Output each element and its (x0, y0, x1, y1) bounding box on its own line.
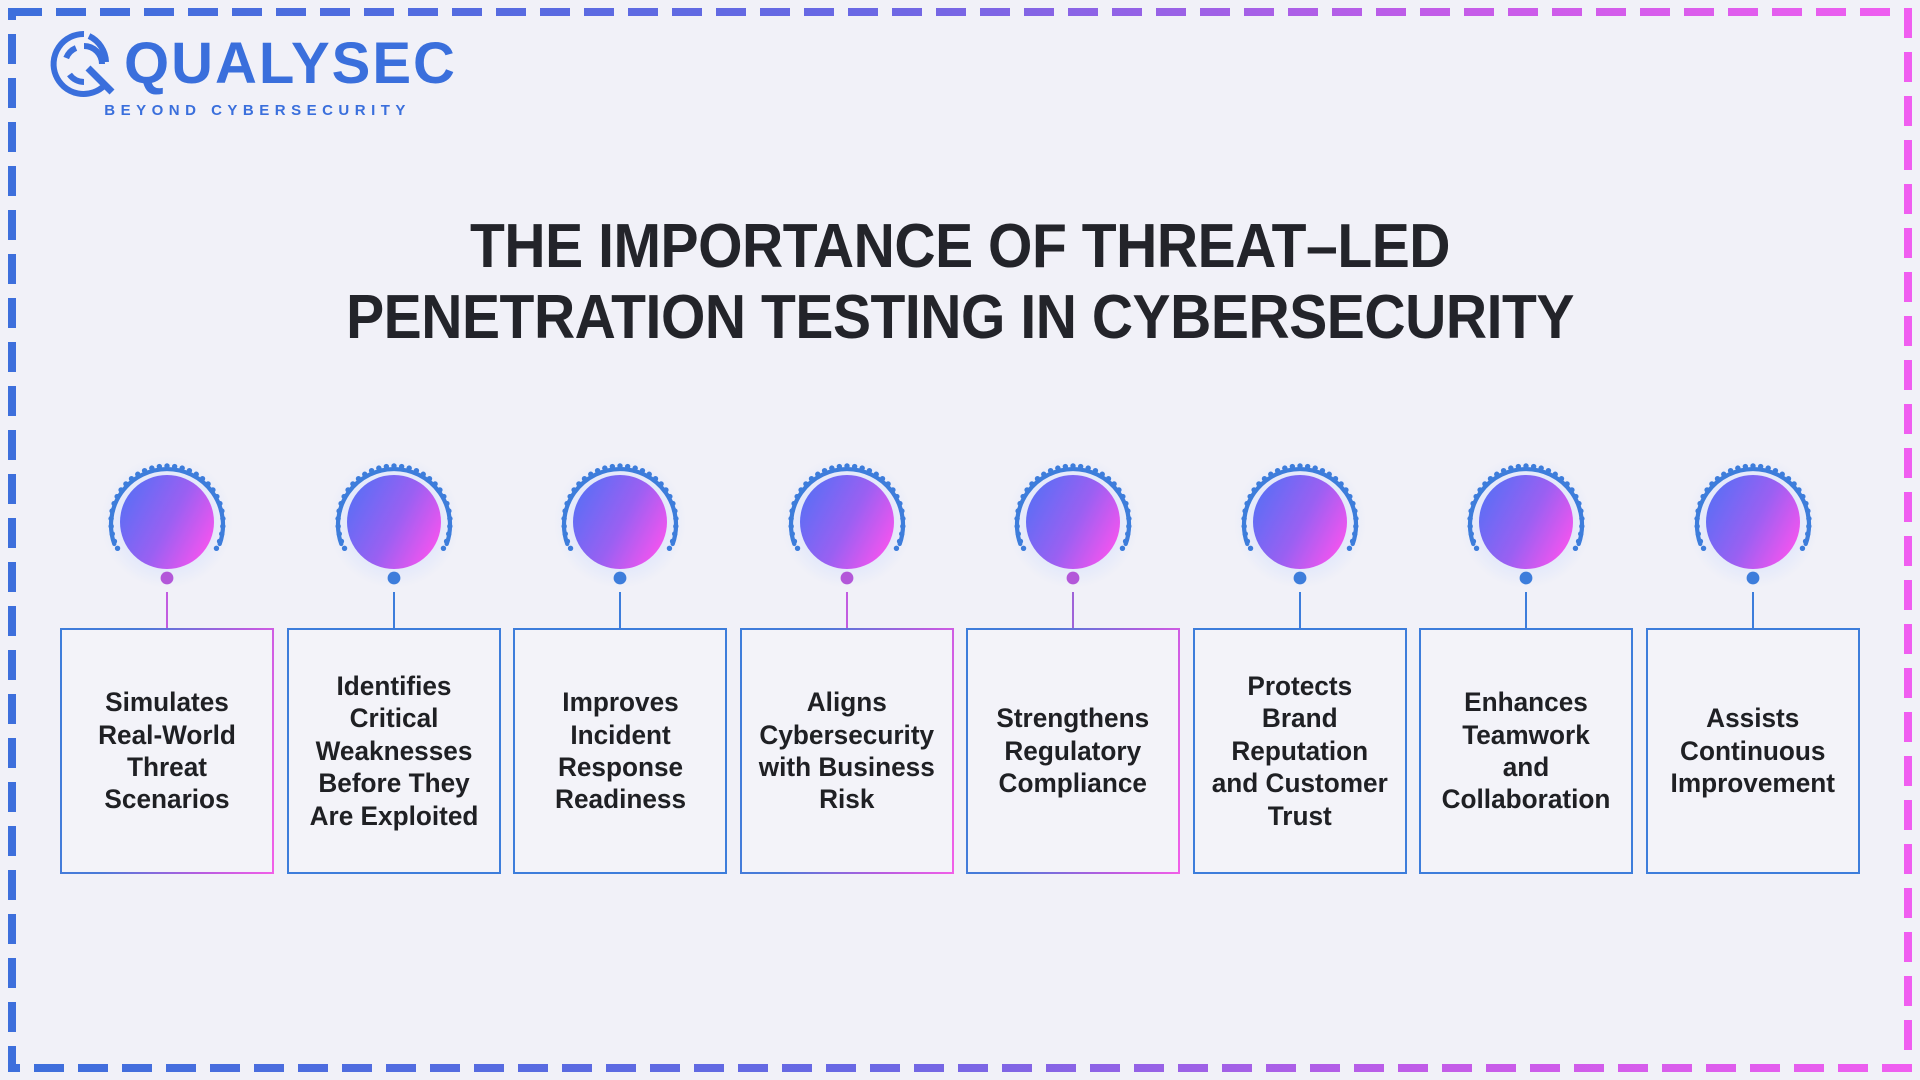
benefit-card-label: AssistsContinuousImprovement (1671, 702, 1835, 799)
gradient-circle-medallion-icon (324, 452, 464, 592)
qualysec-q-logo-icon (48, 28, 120, 100)
benefit-card-label: StrengthensRegulatoryCompliance (997, 702, 1150, 799)
benefit-item-8[interactable]: AssistsContinuousImprovement (1646, 452, 1860, 874)
infographic-canvas: QUALYSEC BEYOND CYBERSECURITY THE IMPORT… (0, 0, 1920, 1080)
benefit-card-inner: AssistsContinuousImprovement (1648, 630, 1858, 872)
benefit-item-7[interactable]: EnhancesTeamworkandCollaboration (1419, 452, 1633, 874)
benefit-card[interactable]: ProtectsBrandReputationand CustomerTrust (1193, 628, 1407, 874)
brand-logo: QUALYSEC BEYOND CYBERSECURITY (48, 28, 457, 119)
page-title-line-2: PENETRATION TESTING IN CYBERSECURITY (77, 283, 1843, 354)
benefit-card-inner: SimulatesReal-WorldThreatScenarios (62, 630, 272, 872)
connector-stem (1525, 592, 1527, 628)
connector-stem (619, 592, 621, 628)
benefit-card[interactable]: EnhancesTeamworkandCollaboration (1419, 628, 1633, 874)
benefit-card[interactable]: StrengthensRegulatoryCompliance (966, 628, 1180, 874)
gradient-circle-medallion-icon (550, 452, 690, 592)
benefit-card-label: SimulatesReal-WorldThreatScenarios (98, 686, 236, 816)
benefits-row: SimulatesReal-WorldThreatScenarios Ident… (60, 452, 1860, 872)
page-title-line-1: THE IMPORTANCE OF THREAT–LED (77, 212, 1843, 283)
benefit-card[interactable]: IdentifiesCriticalWeaknessesBefore TheyA… (287, 628, 501, 874)
benefit-card-label: EnhancesTeamworkandCollaboration (1442, 686, 1611, 816)
gradient-circle-medallion-icon (777, 452, 917, 592)
benefit-item-2[interactable]: IdentifiesCriticalWeaknessesBefore TheyA… (287, 452, 501, 874)
benefit-card-label: AlignsCybersecuritywith BusinessRisk (759, 686, 935, 816)
benefit-card-inner: StrengthensRegulatoryCompliance (968, 630, 1178, 872)
benefit-card-inner: ImprovesIncidentResponseReadiness (515, 630, 725, 872)
benefit-item-4[interactable]: AlignsCybersecuritywith BusinessRisk (740, 452, 954, 874)
connector-stem (166, 592, 168, 628)
benefit-item-1[interactable]: SimulatesReal-WorldThreatScenarios (60, 452, 274, 874)
benefit-card-inner: IdentifiesCriticalWeaknessesBefore TheyA… (289, 630, 499, 872)
benefit-card[interactable]: AssistsContinuousImprovement (1646, 628, 1860, 874)
benefit-item-6[interactable]: ProtectsBrandReputationand CustomerTrust (1193, 452, 1407, 874)
gradient-circle-medallion-icon (97, 452, 237, 592)
benefit-card-inner: AlignsCybersecuritywith BusinessRisk (742, 630, 952, 872)
benefit-card-inner: EnhancesTeamworkandCollaboration (1421, 630, 1631, 872)
connector-stem (1299, 592, 1301, 628)
gradient-circle-medallion-icon (1456, 452, 1596, 592)
connector-stem (1752, 592, 1754, 628)
gradient-circle-medallion-icon (1683, 452, 1823, 592)
gradient-circle-medallion-icon (1230, 452, 1370, 592)
page-title: THE IMPORTANCE OF THREAT–LED PENETRATION… (77, 212, 1843, 353)
benefit-card-label: ProtectsBrandReputationand CustomerTrust (1212, 670, 1388, 832)
benefit-card-label: ImprovesIncidentResponseReadiness (555, 686, 686, 816)
gradient-circle-medallion-icon (1003, 452, 1143, 592)
benefit-card[interactable]: ImprovesIncidentResponseReadiness (513, 628, 727, 874)
connector-stem (393, 592, 395, 628)
logo-row: QUALYSEC (48, 28, 457, 100)
brand-wordmark: QUALYSEC (124, 28, 457, 100)
connector-stem (1072, 592, 1074, 628)
benefit-card-label: IdentifiesCriticalWeaknessesBefore TheyA… (309, 670, 478, 832)
benefit-item-3[interactable]: ImprovesIncidentResponseReadiness (513, 452, 727, 874)
connector-stem (846, 592, 848, 628)
brand-tagline: BEYOND CYBERSECURITY (48, 102, 457, 119)
benefit-card[interactable]: SimulatesReal-WorldThreatScenarios (60, 628, 274, 874)
benefit-item-5[interactable]: StrengthensRegulatoryCompliance (966, 452, 1180, 874)
benefit-card[interactable]: AlignsCybersecuritywith BusinessRisk (740, 628, 954, 874)
benefit-card-inner: ProtectsBrandReputationand CustomerTrust (1195, 630, 1405, 872)
